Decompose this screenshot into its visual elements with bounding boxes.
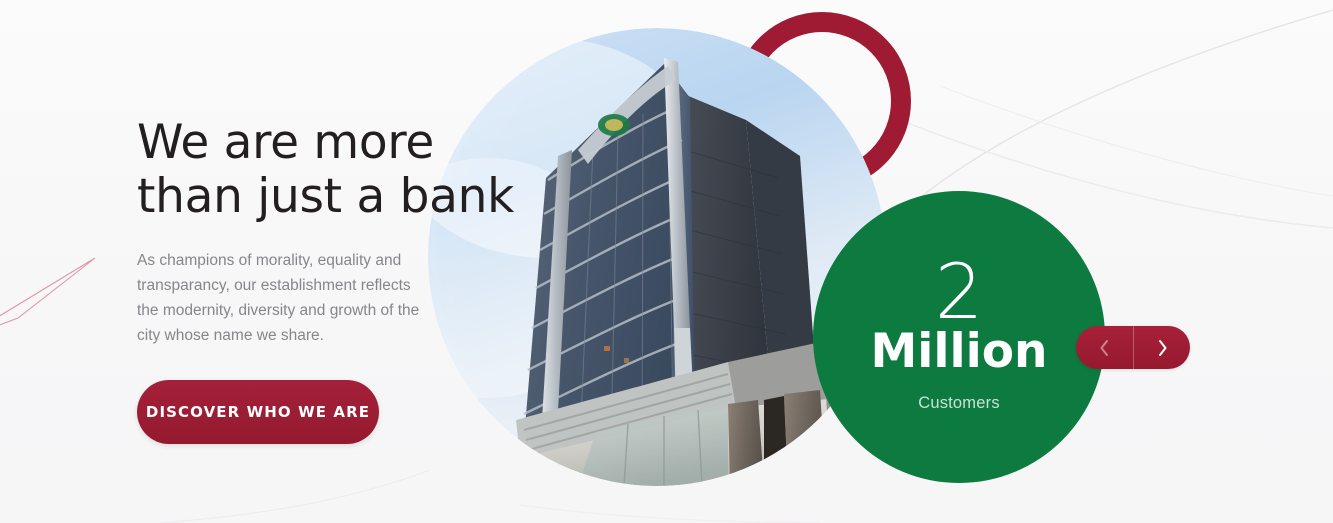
slider-next-button[interactable] bbox=[1133, 326, 1190, 369]
hero-subcopy: As champions of morality, equality and t… bbox=[137, 248, 427, 348]
hero-banner: 2 Million Customers We are more than jus… bbox=[0, 0, 1333, 523]
hero-headline: We are more than just a bank bbox=[137, 116, 537, 223]
stat-number: 2 bbox=[935, 257, 983, 327]
deco-line-3 bbox=[940, 86, 1333, 196]
slider-navigation bbox=[1076, 326, 1190, 369]
chevron-left-icon bbox=[1098, 338, 1111, 358]
slider-prev-button[interactable] bbox=[1076, 326, 1133, 369]
hero-copy: We are more than just a bank As champion… bbox=[137, 116, 537, 444]
stat-circle-customers: 2 Million Customers bbox=[813, 191, 1105, 483]
deco-line-4 bbox=[160, 470, 430, 523]
pink-arrow-stroke bbox=[0, 258, 95, 340]
chevron-right-icon bbox=[1156, 338, 1169, 358]
discover-who-we-are-button[interactable]: DISCOVER WHO WE ARE bbox=[137, 380, 379, 444]
deco-line-1 bbox=[905, 10, 1333, 210]
deco-line-5 bbox=[520, 505, 820, 523]
stat-unit: Million bbox=[871, 328, 1048, 376]
stat-caption: Customers bbox=[918, 394, 1000, 413]
